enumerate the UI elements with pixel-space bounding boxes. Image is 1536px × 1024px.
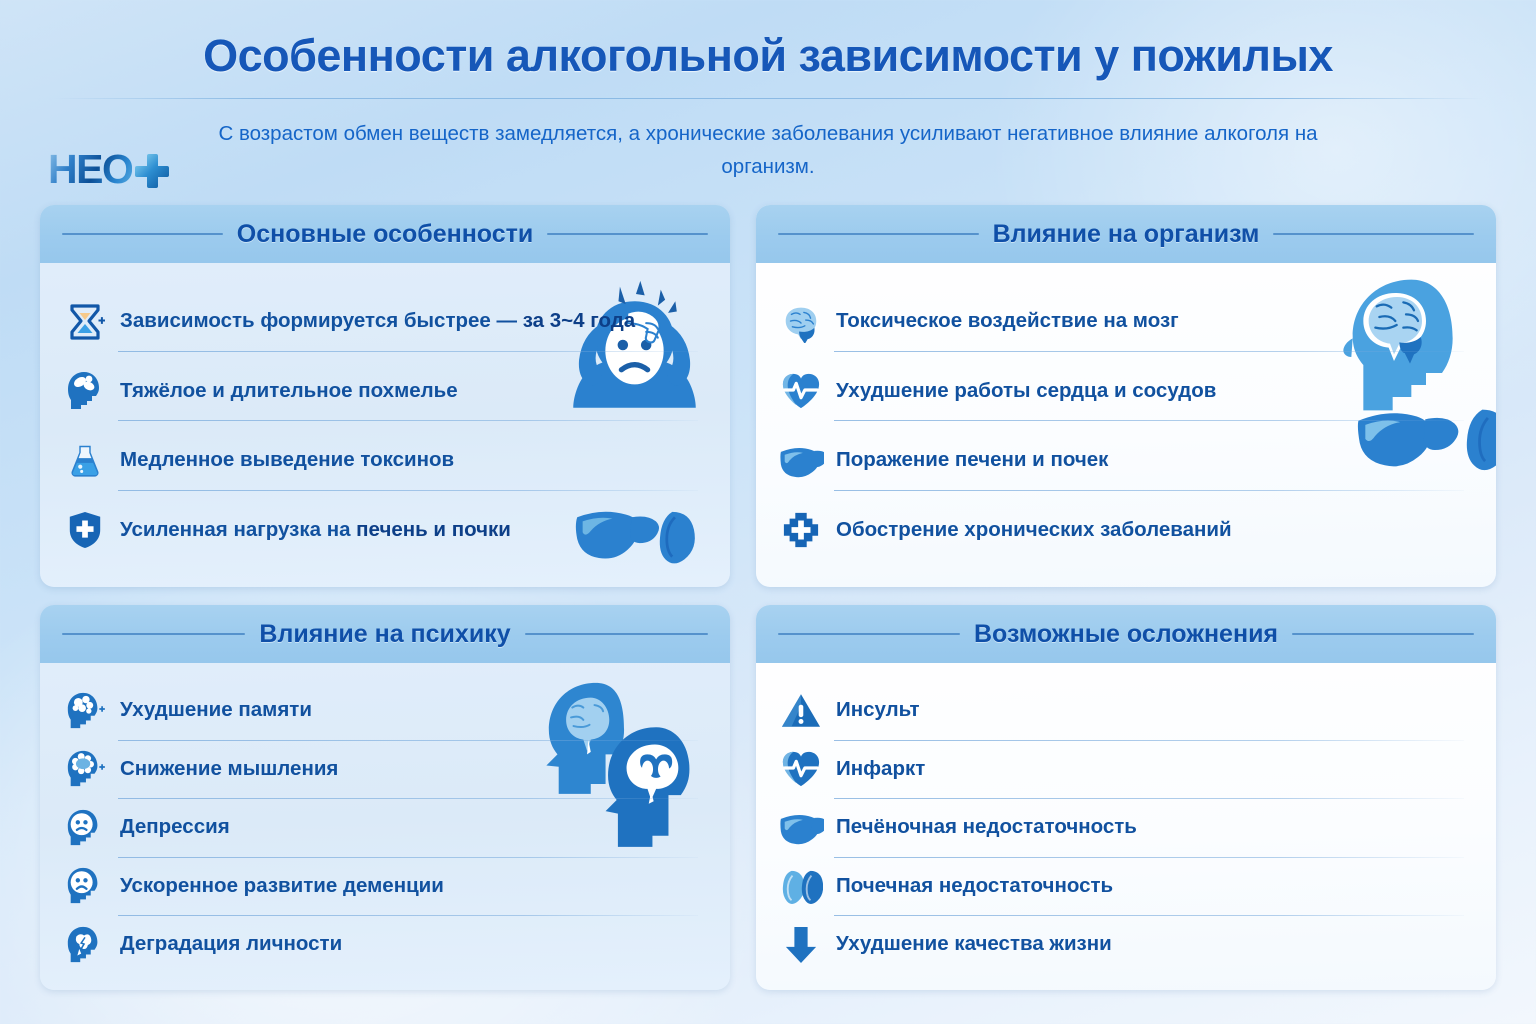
list-item: Обострение хронических заболеваний bbox=[778, 507, 1474, 553]
head-sad-face-icon bbox=[62, 805, 108, 851]
row-separator bbox=[834, 490, 1464, 491]
medical-cross-icon bbox=[778, 507, 824, 553]
card-header: Влияние на психику bbox=[40, 605, 730, 663]
row-separator bbox=[834, 798, 1464, 799]
brain-icon bbox=[778, 299, 824, 345]
hourglass-icon bbox=[62, 299, 108, 345]
row-separator bbox=[118, 798, 698, 799]
list-item: Ухудшение памяти bbox=[62, 688, 708, 734]
list-item: Токсическое воздействие на мозг bbox=[778, 299, 1474, 345]
feature-rows: Токсическое воздействие на мозг Ухудшени… bbox=[778, 275, 1474, 577]
list-item: Поражение печени и почек bbox=[778, 438, 1474, 484]
list-item: Деградация личности bbox=[62, 922, 708, 968]
head-thinking-icon bbox=[62, 746, 108, 792]
brand-logo-text: НЕО bbox=[48, 149, 132, 190]
head-memory-icon bbox=[62, 688, 108, 734]
card-title: Основные особенности bbox=[237, 220, 534, 249]
row-separator bbox=[118, 857, 698, 858]
card-title: Возможные осложнения bbox=[974, 620, 1278, 649]
card-body: Инсульт Инфаркт bbox=[756, 663, 1496, 990]
list-item-label: Обострение хронических заболеваний bbox=[836, 518, 1232, 543]
list-item: Инсульт bbox=[778, 688, 1474, 734]
row-separator bbox=[118, 351, 698, 352]
head-dementia-icon bbox=[62, 863, 108, 909]
list-item: Тяжёлое и длительное похмелье bbox=[62, 368, 708, 414]
head-pills-icon bbox=[62, 368, 108, 414]
list-item: Почечная недостаточность bbox=[778, 863, 1474, 909]
header-rule-right bbox=[1292, 633, 1474, 635]
page-header: Особенности алкогольной зависимости у по… bbox=[0, 0, 1536, 200]
liver-icon bbox=[778, 438, 824, 484]
list-item-label: Ухудшение памяти bbox=[120, 698, 312, 723]
list-item-label: Почечная недостаточность bbox=[836, 874, 1113, 899]
kidney-icon bbox=[778, 863, 824, 909]
header-rule-left bbox=[62, 233, 223, 235]
list-item-label: Ухудшение качества жизни bbox=[836, 932, 1112, 957]
list-item-label: Инфаркт bbox=[836, 757, 925, 782]
list-item-label: Снижение мышления bbox=[120, 757, 338, 782]
header-rule-right bbox=[525, 633, 708, 635]
list-item-label: Депрессия bbox=[120, 815, 230, 840]
feature-rows: Инсульт Инфаркт bbox=[778, 675, 1474, 980]
header-rule-right bbox=[547, 233, 708, 235]
row-separator bbox=[118, 915, 698, 916]
liver-icon bbox=[778, 805, 824, 851]
card-body: Токсическое воздействие на мозг Ухудшени… bbox=[756, 263, 1496, 587]
list-item: Снижение мышления bbox=[62, 746, 708, 792]
list-item: Депрессия bbox=[62, 805, 708, 851]
list-item-label: Токсическое воздействие на мозг bbox=[836, 309, 1179, 334]
row-separator bbox=[834, 857, 1464, 858]
list-item-label: Печёночная недостаточность bbox=[836, 815, 1137, 840]
row-separator bbox=[118, 740, 698, 741]
heart-pulse-icon bbox=[778, 368, 824, 414]
card-title: Влияние на психику bbox=[259, 620, 510, 649]
row-separator bbox=[118, 490, 698, 491]
plus-icon bbox=[135, 154, 169, 188]
header-rule-left bbox=[62, 633, 245, 635]
cards-grid: Основные особенности bbox=[40, 205, 1496, 990]
card-complications: Возможные осложнения Инсульт bbox=[756, 605, 1496, 990]
list-item: Усиленная нагрузка на печень и почки bbox=[62, 507, 708, 553]
head-degradation-icon bbox=[62, 922, 108, 968]
list-item-label: Тяжёлое и длительное похмелье bbox=[120, 379, 458, 404]
list-item: Печёночная недостаточность bbox=[778, 805, 1474, 851]
list-item: Зависимость формируется быстрее — за 3~4… bbox=[62, 299, 708, 345]
list-item-label: Инсульт bbox=[836, 698, 920, 723]
header-rule-left bbox=[778, 633, 960, 635]
list-item-label: Ухудшение работы сердца и сосудов bbox=[836, 379, 1216, 404]
list-item-label: Медленное выведение токсинов bbox=[120, 448, 454, 473]
title-divider bbox=[53, 98, 1483, 99]
card-title: Влияние на организм bbox=[993, 220, 1260, 249]
warning-triangle-icon bbox=[778, 688, 824, 734]
row-separator bbox=[834, 915, 1464, 916]
card-body: Зависимость формируется быстрее — за 3~4… bbox=[40, 263, 730, 587]
card-body: Ухудшение памяти bbox=[40, 663, 730, 990]
flask-icon bbox=[62, 438, 108, 484]
list-item-label: Поражение печени и почек bbox=[836, 448, 1108, 473]
feature-rows: Ухудшение памяти bbox=[62, 675, 708, 980]
card-main-features: Основные особенности bbox=[40, 205, 730, 587]
page-subtitle: С возрастом обмен веществ замедляется, а… bbox=[173, 117, 1363, 183]
down-arrow-icon bbox=[778, 922, 824, 968]
header-rule-left bbox=[778, 233, 979, 235]
list-item-label: Усиленная нагрузка на печень и почки bbox=[120, 518, 511, 543]
card-header: Влияние на организм bbox=[756, 205, 1496, 263]
card-psyche-impact: Влияние на психику bbox=[40, 605, 730, 990]
row-separator bbox=[834, 420, 1464, 421]
list-item: Ускоренное развитие деменции bbox=[62, 863, 708, 909]
row-separator bbox=[834, 351, 1464, 352]
list-item-label: Зависимость формируется быстрее — за 3~4… bbox=[120, 309, 635, 334]
list-item: Ухудшение работы сердца и сосудов bbox=[778, 368, 1474, 414]
list-item-label: Ускоренное развитие деменции bbox=[120, 874, 444, 899]
card-header: Возможные осложнения bbox=[756, 605, 1496, 663]
feature-rows: Зависимость формируется быстрее — за 3~4… bbox=[62, 275, 708, 577]
row-separator bbox=[834, 740, 1464, 741]
shield-cross-icon bbox=[62, 507, 108, 553]
card-body-impact: Влияние на организм bbox=[756, 205, 1496, 587]
brand-logo: НЕО bbox=[48, 147, 169, 195]
list-item-label: Деградация личности bbox=[120, 932, 342, 957]
list-item: Ухудшение качества жизни bbox=[778, 922, 1474, 968]
header-rule-right bbox=[1273, 233, 1474, 235]
card-header: Основные особенности bbox=[40, 205, 730, 263]
page-title: Особенности алкогольной зависимости у по… bbox=[0, 30, 1536, 82]
list-item: Инфаркт bbox=[778, 746, 1474, 792]
list-item: Медленное выведение токсинов bbox=[62, 438, 708, 484]
heart-pulse-icon bbox=[778, 746, 824, 792]
row-separator bbox=[118, 420, 698, 421]
